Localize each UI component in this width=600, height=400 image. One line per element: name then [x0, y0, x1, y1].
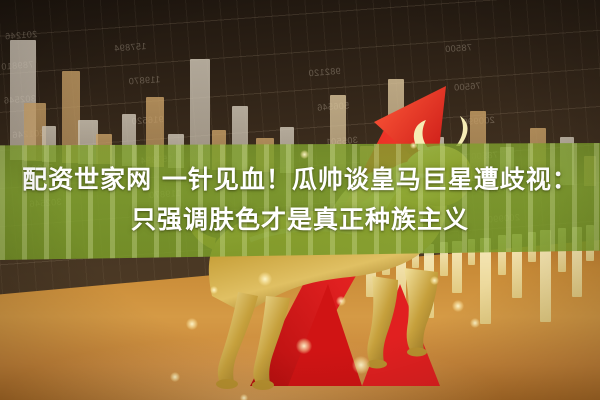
headline-text: 配资世家网 一针见血！瓜帅谈皇马巨星遭歧视： 只强调肤色才是真正种族主义: [0, 160, 600, 240]
headline-line-1: 配资世家网 一针见血！瓜帅谈皇马巨星遭歧视：: [22, 165, 578, 194]
banner-image: 2012461578949821207850078981011987050654…: [0, 0, 600, 400]
headline-line-2: 只强调肤色才是真正种族主义: [0, 200, 600, 240]
